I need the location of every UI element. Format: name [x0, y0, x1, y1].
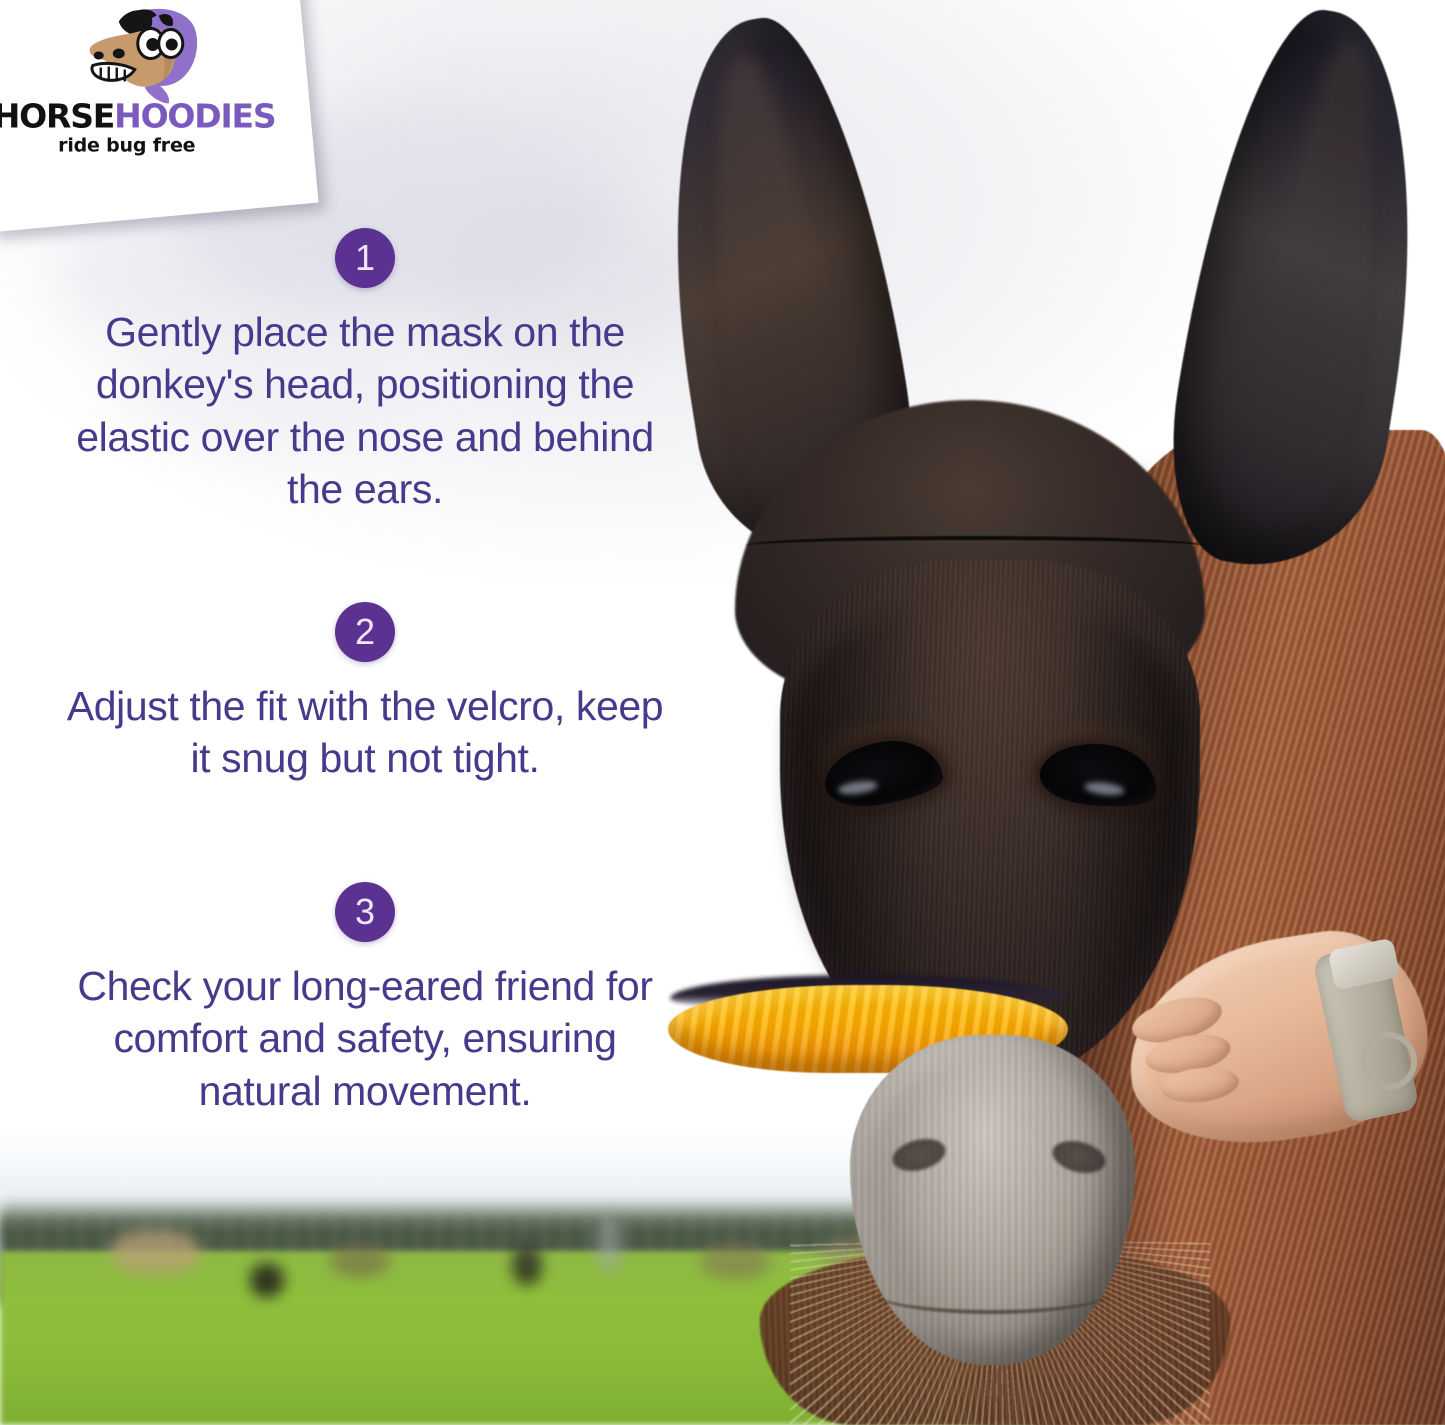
step-3-text: Check your long-eared friend for comfort… [55, 960, 675, 1117]
step-2-number-badge: 2 [335, 602, 395, 662]
step-1: 1 Gently place the mask on the donkey's … [0, 228, 730, 516]
lip-line [872, 1270, 1112, 1314]
step-2: 2 Adjust the fit with the velcro, keep i… [0, 602, 730, 785]
eye-glint [1084, 780, 1125, 797]
step-3-number-badge: 3 [335, 882, 395, 942]
instruction-steps: 1 Gently place the mask on the donkey's … [0, 0, 730, 1425]
step-2-text: Adjust the fit with the velcro, keep it … [55, 680, 675, 785]
fly-mask-browband [745, 536, 1205, 556]
donkey-photo [640, 0, 1445, 1425]
step-3: 3 Check your long-eared friend for comfo… [0, 882, 730, 1117]
eye-glint [837, 779, 878, 796]
step-1-number-badge: 1 [335, 228, 395, 288]
product-instruction-graphic: HORSEHOODIES ride bug free 1 Gently plac… [0, 0, 1445, 1425]
step-1-text: Gently place the mask on the donkey's he… [55, 306, 675, 516]
